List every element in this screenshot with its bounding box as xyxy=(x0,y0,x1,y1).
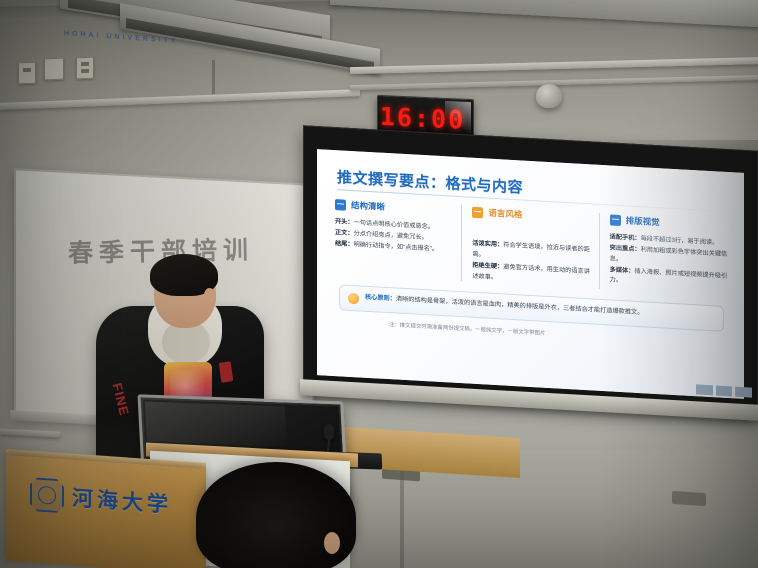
lightbulb-icon xyxy=(348,293,359,305)
audience-ear xyxy=(324,532,340,554)
column-heading: 结构清晰 xyxy=(351,199,385,213)
callout-label: 核心原则： xyxy=(365,294,396,303)
speech-icon xyxy=(472,206,483,218)
ceiling-dome-speaker xyxy=(536,84,562,108)
left-shadow-gradient xyxy=(0,0,300,568)
slide-column-language: 语言风格 活泼实用：符合学生语境，拉近与读者的距离。 拒绝生硬：避免官方话术，用… xyxy=(472,206,599,289)
classroom-photo-scene: 16:00 春季干部培训 推文撰写要点：格式与内容 结构清晰 xyxy=(0,0,758,568)
document-icon xyxy=(335,199,346,211)
column-heading: 语言风格 xyxy=(488,207,522,221)
right-shadow-gradient xyxy=(598,140,758,568)
column-body: 开头：一句话点明核心价值或悬念。 正文：分点介绍亮点，避免冗长。 结尾：明确行动… xyxy=(335,217,453,256)
column-body: 活泼实用：符合学生语境，拉近与读者的距离。 拒绝生硬：避免官方话术，用生动的语言… xyxy=(472,225,590,289)
column-header: 结构清晰 xyxy=(335,198,453,217)
slide-column-structure: 结构清晰 开头：一句话点明核心价值或悬念。 正文：分点介绍亮点，避免冗长。 结尾… xyxy=(335,198,462,281)
column-header: 语言风格 xyxy=(472,206,590,225)
